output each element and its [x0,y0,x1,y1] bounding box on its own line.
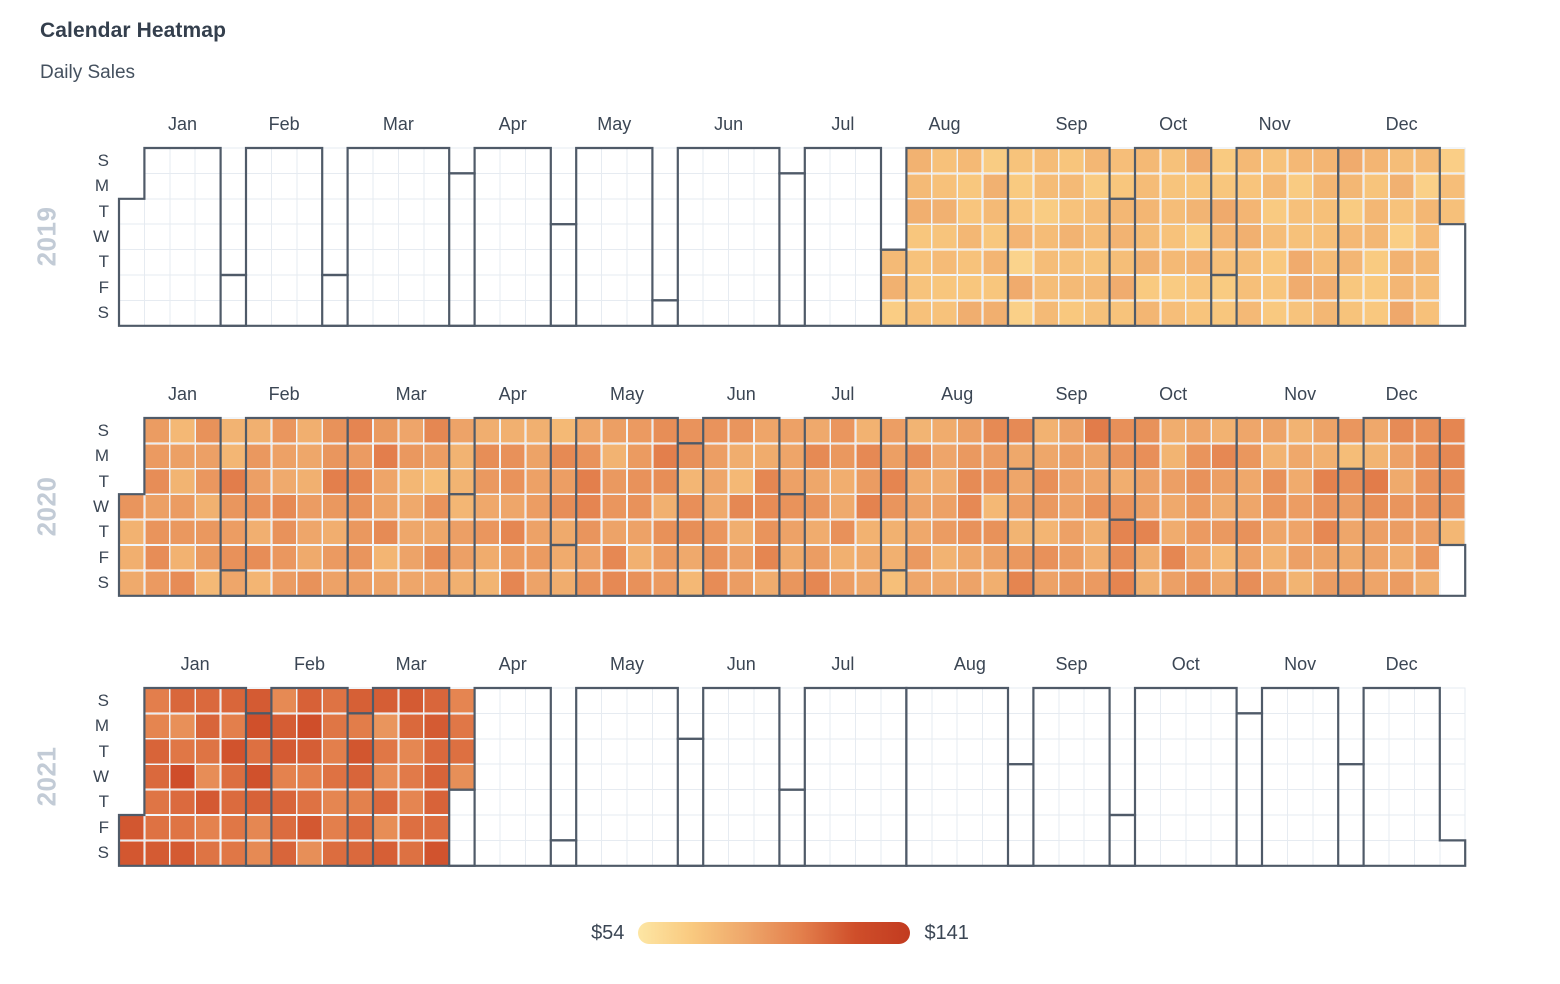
heatmap-cell-empty [957,713,982,738]
heatmap-cell-empty [576,688,601,713]
heatmap-cell[interactable] [425,791,449,815]
heatmap-cell-empty [525,688,550,713]
heatmap-cell-empty [1135,739,1160,764]
heatmap-cell-empty [1211,739,1236,764]
month-label-apr-2021: Apr [473,655,553,673]
heatmap-cell-empty [1237,688,1262,713]
heatmap-cell-empty [627,764,652,789]
heatmap-cell-empty [983,688,1008,713]
heatmap-cell-empty [1186,688,1211,713]
heatmap-cell-empty [805,840,830,865]
heatmap-cell-empty [678,739,703,764]
heatmap-cell-empty [1313,790,1338,815]
heatmap-cell-empty [500,713,525,738]
heatmap-cell-empty [1084,815,1109,840]
heatmap-cell[interactable] [323,791,347,815]
heatmap-cell[interactable] [425,689,449,713]
heatmap-cell-empty [1008,815,1033,840]
heatmap-cell-empty [779,713,804,738]
heatmap-cell-empty [779,815,804,840]
year-label-2021: 2021 [32,687,63,865]
heatmap-cell-empty [1287,713,1312,738]
heatmap-cell-empty [551,815,576,840]
month-label-sep-2021: Sep [1032,655,1112,673]
heatmap-cell[interactable] [196,740,220,764]
heatmap-cell-empty [1008,790,1033,815]
month-label-aug-2021: Aug [930,655,1010,673]
heatmap-cell[interactable] [272,791,296,815]
heatmap-cell[interactable] [399,714,423,738]
month-label-may-2021: May [587,655,667,673]
heatmap-cell[interactable] [272,816,296,840]
heatmap-cell-empty [602,739,627,764]
legend-gradient-bar [638,922,910,944]
heatmap-cell-empty [1287,790,1312,815]
heatmap-cell-empty [1414,688,1439,713]
heatmap-cell[interactable] [298,791,322,815]
heatmap-cell-empty [957,815,982,840]
heatmap-cell[interactable] [399,816,423,840]
heatmap-cell[interactable] [399,740,423,764]
heatmap-cell-empty [830,840,855,865]
heatmap-cell-empty [678,764,703,789]
heatmap-cell[interactable] [298,740,322,764]
heatmap-cell[interactable] [247,816,271,840]
heatmap-cell-empty [1186,764,1211,789]
heatmap-cell[interactable] [247,841,271,865]
heatmap-cell-empty [576,739,601,764]
heatmap-cell[interactable] [399,841,423,865]
heatmap-cell-empty [805,739,830,764]
heatmap-cell-empty [1135,688,1160,713]
heatmap-cell[interactable] [196,689,220,713]
heatmap-cell[interactable] [222,841,246,865]
heatmap-cell[interactable] [399,791,423,815]
heatmap-cell[interactable] [196,765,220,789]
heatmap-cell-empty [500,739,525,764]
heatmap-cell-empty [551,688,576,713]
heatmap-cell[interactable] [399,689,423,713]
heatmap-cell-empty [1008,688,1033,713]
heatmap-cell-empty [830,713,855,738]
heatmap-cell-empty [805,688,830,713]
month-axis-2021: JanFebMarAprMayJunJulAugSepOctNovDec [119,655,1465,681]
heatmap-cell-empty [856,815,881,840]
heatmap-cell-empty [525,790,550,815]
heatmap-cell-empty [703,815,728,840]
heatmap-cell[interactable] [298,841,322,865]
heatmap-cell-empty [1160,815,1185,840]
heatmap-cell-empty [1313,764,1338,789]
heatmap-cell-empty [1059,815,1084,840]
heatmap-cell-empty [1110,713,1135,738]
heatmap-cell[interactable] [247,765,271,789]
day-of-week-axis-2021: SMTWTFS [75,688,109,866]
heatmap-cell-empty [1414,764,1439,789]
heatmap-cell-empty [703,840,728,865]
heatmap-cell-empty [830,688,855,713]
heatmap-cell-empty [1135,815,1160,840]
heatmap-cell[interactable] [222,765,246,789]
heatmap-cell-empty [1364,739,1389,764]
heatmap-cell[interactable] [145,689,169,713]
heatmap-cell-empty [475,790,500,815]
legend-max-label: $141 [924,923,969,943]
heatmap-cell-empty [779,840,804,865]
heatmap-cell-empty [1033,790,1058,815]
heatmap-cell[interactable] [349,765,373,789]
heatmap-cell-empty [1211,688,1236,713]
heatmap-cell[interactable] [222,689,246,713]
heatmap-cell[interactable] [171,765,195,789]
heatmap-cell-empty [932,688,957,713]
heatmap-cell-empty [779,739,804,764]
heatmap-cell-empty [652,840,677,865]
heatmap-cell-empty [1364,840,1389,865]
heatmap-cell-empty [652,764,677,789]
heatmap-cell-empty [576,764,601,789]
heatmap-cell-empty [1084,739,1109,764]
heatmap-cell-empty [525,840,550,865]
heatmap-cell-empty [856,688,881,713]
month-label-jul-2021: Jul [803,655,883,673]
heatmap-cell-empty [602,688,627,713]
heatmap-cell-empty [1211,713,1236,738]
heatmap-cell[interactable] [196,791,220,815]
heatmap-cell-empty [1237,764,1262,789]
heatmap-cell[interactable] [323,765,347,789]
heatmap-cell[interactable] [196,714,220,738]
heatmap-cell[interactable] [323,816,347,840]
heatmap-cell-empty [1338,739,1363,764]
heatmap-cell-empty [1110,815,1135,840]
heatmap-cell-empty [627,713,652,738]
heatmap-cell-empty [1313,840,1338,865]
heatmap-cell-empty [1414,815,1439,840]
heatmap-cell-empty [1186,713,1211,738]
heatmap-cell[interactable] [120,816,144,840]
heatmap-cell[interactable] [298,689,322,713]
heatmap-cell-empty [551,790,576,815]
heatmap-cell[interactable] [171,740,195,764]
heatmap-cell[interactable] [222,740,246,764]
month-label-feb-2021: Feb [270,655,350,673]
heatmap-cell-empty [602,713,627,738]
heatmap-cell-empty [449,815,474,840]
heatmap-cell-empty [1186,790,1211,815]
heatmap-cell-empty [1084,790,1109,815]
heatmap-cell-empty [932,713,957,738]
heatmap-cell[interactable] [349,740,373,764]
heatmap-cell-empty [652,739,677,764]
heatmap-cell-empty [856,713,881,738]
heatmap-cell-empty [475,815,500,840]
heatmap-cell-empty [754,840,779,865]
heatmap-cell-empty [856,840,881,865]
heatmap-cell[interactable] [222,791,246,815]
heatmap-cell-empty [1084,764,1109,789]
heatmap-cell[interactable] [145,816,169,840]
heatmap-cell[interactable] [272,765,296,789]
month-label-mar-2021: Mar [371,655,451,673]
calendar-heatmap: 2019SMTWTFSJanFebMarAprMayJunJulAugSepOc… [0,0,1560,984]
heatmap-cell-empty [475,713,500,738]
heatmap-cell-empty [1186,739,1211,764]
heatmap-cell-empty [1440,815,1465,840]
heatmap-cell[interactable] [399,765,423,789]
month-label-oct-2021: Oct [1146,655,1226,673]
heatmap-cell-empty [1059,840,1084,865]
heatmap-cell[interactable] [323,740,347,764]
heatmap-cell-empty [652,815,677,840]
heatmap-cell[interactable] [196,816,220,840]
heatmap-cell[interactable] [196,841,220,865]
heatmap-cell[interactable] [272,714,296,738]
heatmap-cell-empty [1338,840,1363,865]
heatmap-cell-empty [576,713,601,738]
heatmap-cell-empty [906,713,931,738]
heatmap-cell[interactable] [247,689,271,713]
heatmap-cell[interactable] [374,689,398,713]
dow-label-6: S [98,844,109,861]
heatmap-cell-empty [1262,790,1287,815]
heatmap-cell[interactable] [145,841,169,865]
heatmap-cell[interactable] [349,841,373,865]
heatmap-cell-empty [830,739,855,764]
heatmap-cell[interactable] [145,714,169,738]
heatmap-cell[interactable] [120,841,144,865]
heatmap-cell-empty [525,764,550,789]
heatmap-cell-empty [830,790,855,815]
heatmap-cell-empty [627,739,652,764]
heatmap-cell-empty [551,713,576,738]
heatmap-cell[interactable] [272,689,296,713]
heatmap-cell-empty [957,764,982,789]
heatmap-cell-empty [1033,688,1058,713]
heatmap-cell-empty [500,688,525,713]
heatmap-cell-empty [1313,713,1338,738]
heatmap-cell-empty [627,815,652,840]
heatmap-cell-empty [652,713,677,738]
heatmap-cell-empty [1084,713,1109,738]
heatmap-cell-empty [805,713,830,738]
heatmap-cell-empty [729,739,754,764]
heatmap-cell[interactable] [425,841,449,865]
heatmap-cell-empty [1313,688,1338,713]
heatmap-cell-empty [1237,739,1262,764]
heatmap-cell[interactable] [374,791,398,815]
heatmap-cell[interactable] [298,765,322,789]
heatmap-cell-empty [957,688,982,713]
heatmap-cell-empty [678,713,703,738]
heatmap-cell-empty [906,790,931,815]
heatmap-cell-empty [602,790,627,815]
heatmap-cell-empty [779,790,804,815]
heatmap-cell-empty [1338,688,1363,713]
heatmap-cell-empty [1110,790,1135,815]
heatmap-cell-empty [1033,815,1058,840]
heatmap-cell-empty [1110,764,1135,789]
heatmap-cell[interactable] [450,765,474,789]
heatmap-cell[interactable] [323,714,347,738]
heatmap-cell-empty [475,840,500,865]
heatmap-cell-empty [779,688,804,713]
heatmap-cell-empty [652,688,677,713]
heatmap-cell-empty [1033,840,1058,865]
heatmap-cell-empty [1440,713,1465,738]
heatmap-cell-empty [1389,688,1414,713]
heatmap-cell-empty [729,790,754,815]
heatmap-cell[interactable] [425,765,449,789]
heatmap-cell-empty [1110,739,1135,764]
heatmap-cell-empty [1262,739,1287,764]
heatmap-cell-empty [1287,840,1312,865]
heatmap-cell-empty [1135,713,1160,738]
heatmap-cell[interactable] [374,841,398,865]
heatmap-cell-empty [1084,840,1109,865]
heatmap-cell-empty [1389,840,1414,865]
heatmap-cell-empty [1287,764,1312,789]
dow-label-0: S [98,692,109,709]
heatmap-cell-empty [1033,713,1058,738]
heatmap-cell-empty [1211,764,1236,789]
heatmap-cell[interactable] [222,714,246,738]
heatmap-cell-empty [881,790,906,815]
heatmap-cell-empty [1389,815,1414,840]
heatmap-cell-empty [1338,713,1363,738]
heatmap-cell[interactable] [272,740,296,764]
heatmap-cell-empty [703,790,728,815]
heatmap-cell-empty [652,790,677,815]
heatmap-cell-empty [525,815,550,840]
heatmap-cell-empty [1389,713,1414,738]
heatmap-cell-empty [1008,739,1033,764]
heatmap-cell-empty [729,840,754,865]
heatmap-cell[interactable] [247,714,271,738]
heatmap-cell-empty [525,739,550,764]
heatmap-cell-empty [754,790,779,815]
heatmap-cell-empty [576,840,601,865]
heatmap-cell-empty [1008,713,1033,738]
heatmap-cell-empty [1237,840,1262,865]
heatmap-cell[interactable] [374,816,398,840]
heatmap-cell-empty [1414,790,1439,815]
heatmap-cell-empty [1110,840,1135,865]
heatmap-cell[interactable] [374,740,398,764]
heatmap-cell[interactable] [272,841,296,865]
heatmap-cell-empty [500,764,525,789]
heatmap-cell-empty [932,739,957,764]
heatmap-cell-empty [449,840,474,865]
heatmap-cell-empty [1160,840,1185,865]
heatmap-cell-empty [1440,790,1465,815]
heatmap-cell[interactable] [145,740,169,764]
heatmap-cell-empty [1364,790,1389,815]
heatmap-cell-empty [1211,840,1236,865]
heatmap-cell-empty [1211,815,1236,840]
heatmap-cell-empty [500,790,525,815]
heatmap-cell[interactable] [323,689,347,713]
heatmap-cell[interactable] [349,689,373,713]
heatmap-cell-empty [1084,688,1109,713]
heatmap-cell-empty [957,739,982,764]
heatmap-cell-empty [576,790,601,815]
heatmap-cell-empty [754,713,779,738]
heatmap-cell-empty [627,790,652,815]
heatmap-cell[interactable] [247,740,271,764]
heatmap-cell[interactable] [145,765,169,789]
heatmap-cell[interactable] [374,714,398,738]
heatmap-cell-empty [1440,688,1465,713]
heatmap-cell[interactable] [298,714,322,738]
heatmap-cell[interactable] [374,765,398,789]
heatmap-cell-empty [1160,790,1185,815]
month-label-dec-2021: Dec [1362,655,1442,673]
heatmap-cell[interactable] [425,740,449,764]
heatmap-cell-empty [932,815,957,840]
heatmap-cell[interactable] [425,714,449,738]
heatmap-cell[interactable] [171,816,195,840]
heatmap-cell-empty [500,840,525,865]
heatmap-cell[interactable] [450,689,474,713]
heatmap-cell[interactable] [349,714,373,738]
heatmap-cell-empty [602,764,627,789]
heatmap-cell[interactable] [171,689,195,713]
heatmap-cell-empty [1364,764,1389,789]
heatmap-cell[interactable] [171,714,195,738]
heatmap-cell[interactable] [298,816,322,840]
heatmap-cell[interactable] [247,791,271,815]
heatmap-cell-empty [1135,840,1160,865]
heatmap-cell-empty [729,713,754,738]
heatmap-cell[interactable] [425,816,449,840]
dow-label-1: M [95,717,109,734]
heatmap-cell[interactable] [171,791,195,815]
heatmap-cell[interactable] [145,791,169,815]
heatmap-cell-empty [1059,764,1084,789]
heatmap-cell[interactable] [450,714,474,738]
heatmap-cell-empty [1135,790,1160,815]
heatmap-cell-empty [957,790,982,815]
heatmap-cell-empty [627,840,652,865]
heatmap-cell-empty [678,815,703,840]
heatmap-cell[interactable] [323,841,347,865]
heatmap-cell-empty [932,840,957,865]
heatmap-cell-empty [449,790,474,815]
heatmap-cell-empty [805,815,830,840]
heatmap-cell-empty [1313,739,1338,764]
heatmap-cell-empty [703,739,728,764]
heatmap-cell-empty [1262,840,1287,865]
heatmap-cell-empty [906,815,931,840]
heatmap-cell-empty [881,688,906,713]
color-legend: $54 $141 [0,910,1560,956]
heatmap-cell[interactable] [349,816,373,840]
heatmap-cell-empty [856,790,881,815]
heatmap-cell[interactable] [450,740,474,764]
dow-label-3: W [93,768,109,785]
heatmap-cell-empty [602,840,627,865]
heatmap-cell-empty [805,764,830,789]
heatmap-cell-empty [703,688,728,713]
heatmap-cell-empty [500,815,525,840]
heatmap-cell-empty [1414,739,1439,764]
heatmap-cell[interactable] [222,816,246,840]
heatmap-cell-empty [906,688,931,713]
heatmap-cell[interactable] [349,791,373,815]
heatmap-cell[interactable] [171,841,195,865]
heatmap-cell-empty [627,688,652,713]
